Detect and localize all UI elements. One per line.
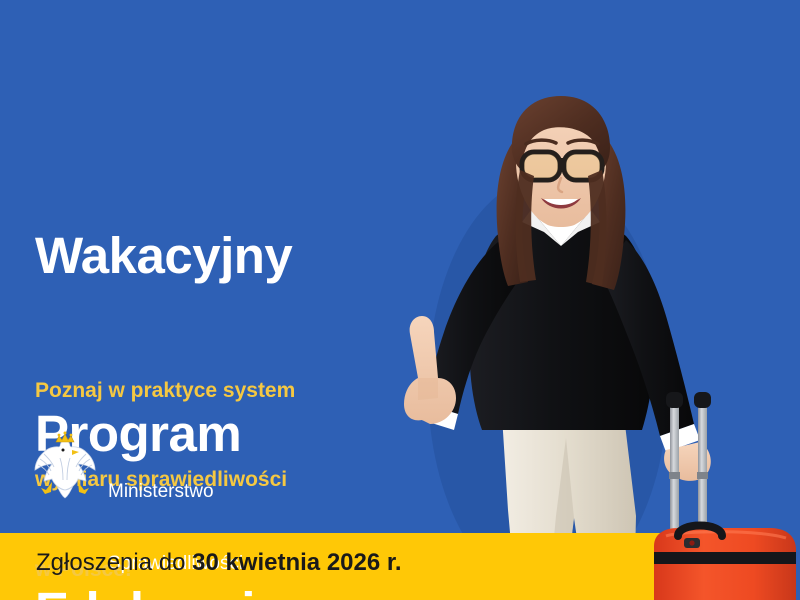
ministry-name: Ministerstwo Sprawiedliwości [108,457,276,600]
deadline-prefix: Zgłoszenia do [36,549,192,576]
suitcase-trim [654,552,796,564]
handle-pole-right [698,400,707,542]
suitcase-photo [630,386,800,600]
ministry-line-1: Ministerstwo [108,480,276,504]
handle-pole-left [670,400,679,542]
subtitle-line-1: Poznaj w praktyce system [35,376,295,406]
deadline-text: Zgłoszenia do 30 kwietnia 2026 r. [36,551,402,575]
deadline-date: 30 kwietnia 2026 r. [192,549,401,576]
handle-grip-left [666,392,683,408]
handle-grip-right [694,392,711,408]
headline-line-1: Wakacyjny [35,226,313,285]
promotional-banner: Wakacyjny Program Edukacyjny Poznaj w pr… [0,0,800,600]
polish-eagle-emblem-icon [32,428,98,500]
